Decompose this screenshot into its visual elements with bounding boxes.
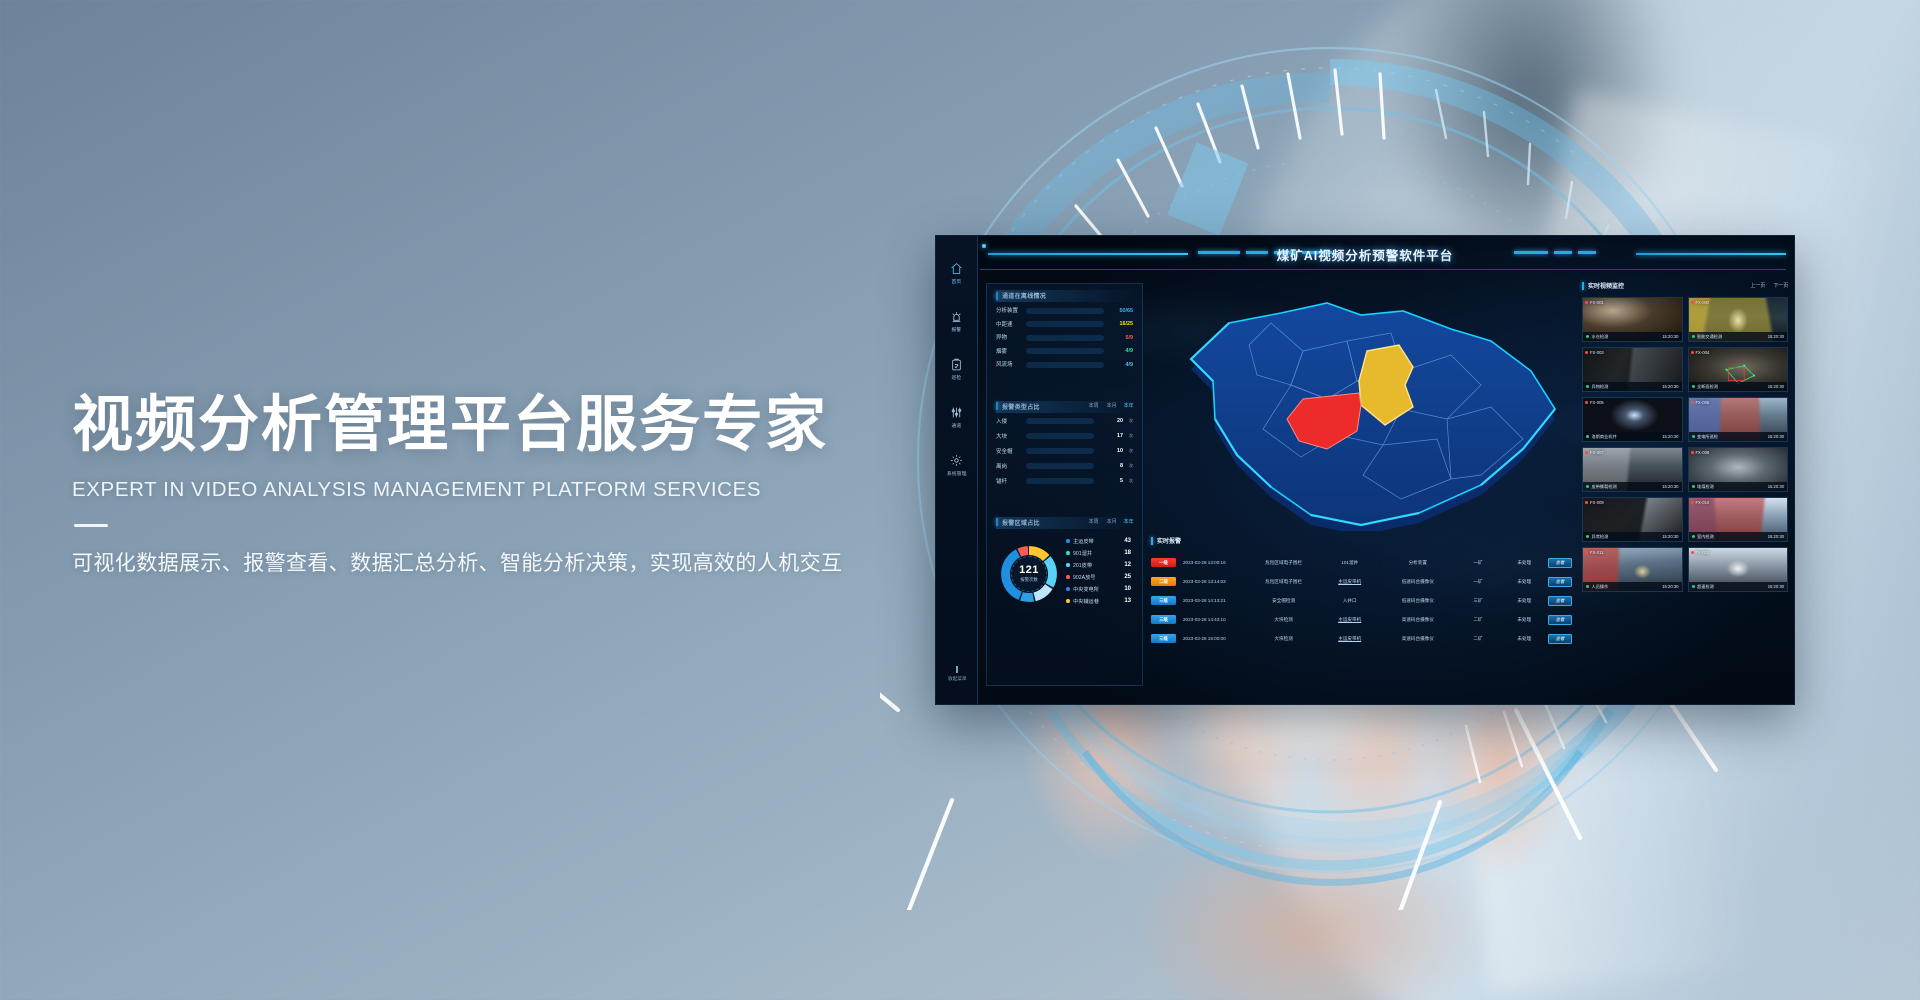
video-tile-name: 超速检测 — [1692, 584, 1714, 590]
alarm-type-row: 大块 17 次 — [996, 433, 1133, 440]
video-tile-time: 15:20:30 — [1768, 334, 1784, 339]
video-panel-title-text: 实时视频监控 — [1588, 281, 1624, 290]
alarm-location: 主运皮带机 — [1319, 579, 1380, 585]
video-tile-bar: 室内检测 15:20:30 — [1689, 532, 1788, 541]
tab-area-this-year[interactable]: 本年 — [1123, 519, 1133, 525]
alarm-device: 分析装置 — [1380, 560, 1455, 566]
record-dot-icon — [1585, 451, 1588, 454]
alarm-type-track — [1026, 418, 1094, 424]
clipboard-check-icon — [950, 358, 963, 373]
video-pagination: 上一页 下一页 — [1751, 283, 1788, 289]
status-badge: 三级 — [1151, 596, 1176, 605]
sidebar-item-home[interactable]: 首页 — [938, 262, 976, 285]
prev-page-button[interactable]: 上一页 — [1751, 282, 1766, 288]
sidebar-item-alarm-label: 报警 — [952, 327, 962, 334]
alarm-type-value: 10 — [1097, 448, 1123, 454]
header-frame-line — [980, 269, 1786, 270]
video-tile-id: FX-008 — [1691, 450, 1710, 455]
legend-item: 中央变电所 10 — [1066, 586, 1131, 593]
record-dot-icon — [1691, 351, 1694, 354]
online-dot-icon — [1692, 335, 1695, 338]
channel-row-label: 中距速 — [996, 320, 1024, 328]
home-icon — [950, 262, 963, 277]
next-page-button[interactable]: 下一页 — [1774, 282, 1789, 288]
video-tile-bar: 异物检测 15:20:30 — [1583, 382, 1682, 391]
alarm-total-caption: 报警次数 — [1020, 577, 1038, 584]
tab-this-week[interactable]: 本周 — [1089, 403, 1099, 409]
record-dot-icon — [1691, 551, 1694, 554]
online-dot-icon — [1586, 385, 1589, 388]
video-tile-name: 皮带撕裂检测 — [1586, 484, 1617, 490]
record-dot-icon — [1585, 401, 1588, 404]
channel-bar-row: 分析装置 50/65 — [996, 307, 1133, 314]
alarm-type-label: 离岗 — [996, 462, 1024, 470]
alarm-type-unit: 次 — [1129, 418, 1133, 424]
online-dot-icon — [1586, 535, 1589, 538]
alarm-type: 大块检测 — [1248, 617, 1319, 623]
alarm-type-row: 安全帽 10 次 — [996, 448, 1133, 455]
video-tile-name: 水仓检测 — [1586, 334, 1608, 340]
hero-text-block: 视频分析管理平台服务专家 EXPERT IN VIDEO ANALYSIS MA… — [72, 390, 932, 577]
legend-item: 中央辅运巷 13 — [1066, 598, 1131, 605]
alarm-device: 高速码台摄像仪 — [1380, 636, 1455, 642]
legend-label: 主运皮带 — [1073, 537, 1126, 545]
alarm-type-row: 锚杆 5 次 — [996, 478, 1133, 485]
alarm-status: 未处理 — [1501, 560, 1548, 566]
video-tile-id: FX-009 — [1585, 500, 1604, 505]
alarm-time: 2023-03-28 13:14:03 — [1183, 579, 1248, 584]
record-dot-icon — [1585, 501, 1588, 504]
status-badge: 二级 — [1151, 577, 1176, 586]
video-tile-bar: 皮带撕裂检测 15:20:30 — [1583, 482, 1682, 491]
channel-row-label: 异物 — [996, 334, 1024, 342]
channel-row-value: 5/9 — [1107, 334, 1133, 340]
alarm-type-unit: 次 — [1129, 478, 1133, 484]
video-tile-id: FX-001 — [1585, 300, 1604, 305]
sidebar-collapse-button[interactable]: 收起菜单 — [936, 666, 978, 682]
channel-row-value: 50/65 — [1107, 307, 1133, 313]
table-row[interactable]: 三级 2023-03-28 14:43:10 大块检测 主运皮带机 高速码台摄像… — [1151, 610, 1576, 629]
video-tile-id: FX-006 — [1691, 400, 1710, 405]
channel-bar-row: 异物 5/9 — [996, 334, 1133, 341]
record-dot-icon — [1585, 551, 1588, 554]
alarm-type-value: 5 — [1097, 478, 1123, 484]
monitor-screen: 煤矿AI视频分析预警软件平台 首页 报警 巡检 — [935, 235, 1795, 705]
alarm-status: 未处理 — [1501, 636, 1548, 642]
video-tile-id: FX-005 — [1585, 400, 1604, 405]
video-tile[interactable]: FX-012 超速检测 15:20:30 — [1688, 547, 1789, 592]
legend-item: 902A放号 25 — [1066, 574, 1131, 581]
video-tile-id: FX-010 — [1691, 500, 1710, 505]
view-button[interactable]: 查看 — [1548, 615, 1572, 625]
channel-row-value: 16/25 — [1107, 321, 1133, 327]
online-dot-icon — [1692, 585, 1695, 588]
online-dot-icon — [1692, 535, 1695, 538]
channel-bar-list: 分析装置 50/65 中距速 16/25 异物 5/9 — [996, 307, 1133, 368]
table-row[interactable]: 三级 2023-03-28 14:13:21 安全帽检测 入井口 低速码台摄像仪… — [1151, 591, 1576, 610]
tab-this-month[interactable]: 本月 — [1106, 403, 1116, 409]
alarm-type-value: 17 — [1097, 433, 1123, 439]
video-tile[interactable]: FX-008 堆煤检测 15:20:30 — [1688, 447, 1789, 492]
alarm-type-value: 8 — [1097, 463, 1123, 469]
alarm-type: 大块检测 — [1248, 636, 1319, 642]
alarm-mine: 二矿 — [1455, 617, 1500, 623]
video-tile-bar: 洛斯商业机井 15:20:30 — [1583, 432, 1682, 441]
alarm-type: 危险区域电子围栏 — [1248, 560, 1319, 566]
dashboard-title: 煤矿AI视频分析预警软件平台 — [936, 245, 1794, 264]
alarm-type-unit: 次 — [1129, 463, 1133, 469]
video-tile-bar: 全断面检测 15:20:30 — [1689, 382, 1788, 391]
alarm-type: 危险区域电子围栏 — [1248, 579, 1319, 585]
alarm-type-track — [1026, 463, 1094, 469]
video-tile-name: 洛斯商业机井 — [1586, 434, 1617, 440]
video-tile-bar: 智能交通检测 15:20:30 — [1689, 332, 1788, 341]
alarm-mine: 一矿 — [1455, 560, 1500, 566]
alarm-area-tabs: 本周 本月 本年 — [1089, 519, 1133, 525]
video-tile[interactable]: FX-005 洛斯商业机井 15:20:30 — [1582, 397, 1683, 442]
legend-label: 902A放号 — [1073, 573, 1126, 581]
alarm-location: 主运皮带机 — [1319, 636, 1380, 642]
alarm-device: 高速码台摄像仪 — [1380, 617, 1455, 623]
online-dot-icon — [1692, 385, 1695, 388]
realtime-alarm-title-text: 实时报警 — [1157, 536, 1181, 545]
video-tile-name: 全断面检测 — [1692, 384, 1718, 390]
legend-label: 901溜井 — [1073, 549, 1126, 557]
view-button[interactable]: 查看 — [1548, 634, 1572, 644]
view-button[interactable]: 查看 — [1548, 558, 1572, 568]
sliders-icon — [950, 406, 963, 421]
video-tile[interactable]: FX-002 智能交通检测 15:20:30 — [1688, 297, 1789, 342]
video-tile-bar: 人员操作 15:20:30 — [1583, 582, 1682, 591]
alarm-type-value: 20 — [1097, 418, 1123, 424]
video-tile-id: FX-011 — [1585, 550, 1603, 555]
alarm-location: 101溜井 — [1319, 560, 1380, 566]
video-tile-name: 堆煤检测 — [1692, 484, 1714, 490]
view-button[interactable]: 查看 — [1548, 596, 1572, 606]
video-tile-time: 15:20:30 — [1662, 384, 1678, 389]
channel-row-track — [1026, 335, 1104, 341]
channel-row-value: 4/9 — [1107, 348, 1133, 354]
video-tile-id: FX-004 — [1691, 350, 1710, 355]
record-dot-icon — [1691, 501, 1694, 504]
tab-area-this-month[interactable]: 本月 — [1106, 519, 1116, 525]
alarm-location: 主运皮带机 — [1319, 617, 1380, 623]
video-tile[interactable]: FX-006 变电所巡检 15:20:30 — [1688, 397, 1789, 442]
alarm-total-count: 121 — [1019, 564, 1039, 576]
alarm-status: 未处理 — [1501, 598, 1548, 604]
video-tile-time: 15:20:30 — [1768, 434, 1784, 439]
view-button[interactable]: 查看 — [1548, 577, 1572, 587]
online-dot-icon — [1692, 485, 1695, 488]
record-dot-icon — [1691, 301, 1694, 304]
alarm-device: 低速码台摄像仪 — [1380, 598, 1455, 604]
sidebar: 首页 报警 巡检 通道 — [936, 236, 978, 704]
alarm-type-unit: 次 — [1129, 433, 1133, 439]
video-tile-id: FX-003 — [1585, 350, 1604, 355]
tab-this-year[interactable]: 本年 — [1123, 403, 1133, 409]
alarm-type-bar-list: 入侵 20 次 大块 17 次 安全帽 10 — [996, 418, 1133, 485]
video-tile-id: FX-007 — [1585, 450, 1604, 455]
channel-row-value: 4/9 — [1107, 361, 1133, 367]
video-tile-name: 异常检测 — [1586, 534, 1608, 540]
video-panel-title: 实时视频监控 — [1582, 281, 1624, 290]
channel-row-label: 分析装置 — [996, 307, 1024, 315]
online-dot-icon — [1586, 335, 1589, 338]
alarm-type: 安全帽检测 — [1248, 598, 1319, 604]
channel-online-panel: 通道在离线情况 分析装置 50/65 中距速 16/25 异 — [987, 284, 1142, 379]
alarm-area-donut-chart: 121 报警次数 — [998, 543, 1060, 605]
video-tile-time: 15:20:30 — [1662, 484, 1678, 489]
alarm-area-panel: 报警区域占比 本周 本月 本年 — [987, 511, 1142, 614]
donut-center: 121 报警次数 — [1011, 556, 1047, 592]
channel-row-track — [1026, 348, 1104, 354]
collapse-bar-icon — [956, 666, 958, 673]
channel-bar-row: 风流场 4/9 — [996, 361, 1133, 368]
video-tile-time: 15:20:30 — [1768, 534, 1784, 539]
alarm-light-icon — [950, 310, 963, 325]
video-tile-time: 15:20:30 — [1662, 334, 1678, 339]
dashboard-root: 煤矿AI视频分析预警软件平台 首页 报警 巡检 — [936, 236, 1794, 704]
alarm-type-unit: 次 — [1129, 448, 1133, 454]
legend-item: 主运皮带 43 — [1066, 538, 1131, 545]
video-monitor-panel: 实时视频监控 上一页 下一页 FX-001 水仓检测 15:20:30 — [1582, 281, 1788, 690]
online-dot-icon — [1586, 435, 1589, 438]
hero-description: 可视化数据展示、报警查看、数据汇总分析、智能分析决策，实现高效的人机交互 — [72, 547, 932, 577]
video-tile-bar: 堆煤检测 15:20:30 — [1689, 482, 1788, 491]
tab-area-this-week[interactable]: 本周 — [1089, 519, 1099, 525]
alarm-type-label: 入侵 — [996, 417, 1024, 425]
video-panel-header: 实时视频监控 上一页 下一页 — [1582, 281, 1788, 290]
legend-label: 201皮带 — [1073, 561, 1126, 569]
hero-subtitle: EXPERT IN VIDEO ANALYSIS MANAGEMENT PLAT… — [72, 478, 932, 502]
video-tile[interactable]: FX-004 全断面检测 15:20:30 — [1688, 347, 1789, 392]
channel-bar-row: 中距速 16/25 — [996, 321, 1133, 328]
video-tile-time: 15:20:30 — [1662, 534, 1678, 539]
video-tile-name: 智能交通检测 — [1692, 334, 1723, 340]
video-tile-name: 变电所巡检 — [1692, 434, 1718, 440]
video-tile-time: 15:20:30 — [1662, 434, 1678, 439]
sidebar-item-channel[interactable]: 通道 — [938, 406, 976, 429]
table-row[interactable]: 二级 2023-03-28 13:14:03 危险区域电子围栏 主运皮带机 低速… — [1151, 572, 1576, 591]
alarm-area-donut-wrap: 121 报警次数 主运皮带 43 901溜井 18 — [996, 534, 1133, 610]
video-tile[interactable]: FX-010 室内检测 15:20:30 — [1688, 497, 1789, 542]
dashboard-header: 煤矿AI视频分析预警软件平台 — [936, 236, 1794, 276]
alarm-type-row: 入侵 20 次 — [996, 418, 1133, 425]
alarm-type-row: 离岗 8 次 — [996, 463, 1133, 470]
video-tile-id: FX-012 — [1691, 550, 1710, 555]
alarm-device: 低速码台摄像仪 — [1380, 579, 1455, 585]
alarm-location: 入井口 — [1319, 598, 1380, 604]
sidebar-item-inspection-label: 巡检 — [952, 375, 962, 382]
alarm-mine: 一矿 — [1455, 579, 1500, 585]
alarm-type-track — [1026, 478, 1094, 484]
region-map[interactable] — [1151, 281, 1581, 531]
record-dot-icon — [1585, 351, 1588, 354]
left-panel-column: 通道在离线情况 分析装置 50/65 中距速 16/25 异 — [986, 283, 1143, 686]
video-tile-id: FX-002 — [1691, 300, 1710, 305]
channel-row-track — [1026, 321, 1104, 327]
alarm-type-tabs: 本周 本月 本年 — [1089, 403, 1133, 409]
video-tile-time: 15:20:30 — [1768, 484, 1784, 489]
online-dot-icon — [1692, 435, 1695, 438]
alarm-mine: 三矿 — [1455, 598, 1500, 604]
alarm-type-track — [1026, 448, 1094, 454]
sidebar-item-home-label: 首页 — [952, 279, 962, 286]
alarm-type-label: 大块 — [996, 432, 1024, 440]
alarm-status: 未处理 — [1501, 579, 1548, 585]
hero-title: 视频分析管理平台服务专家 — [72, 390, 932, 458]
video-tile-time: 15:20:30 — [1768, 584, 1784, 589]
alarm-time: 2023-03-28 15:00:00 — [1183, 636, 1248, 641]
channel-row-track — [1026, 362, 1104, 368]
video-tile-bar: 异常检测 15:20:30 — [1583, 532, 1682, 541]
online-dot-icon — [1586, 485, 1589, 488]
video-tile-bar: 变电所巡检 15:20:30 — [1689, 432, 1788, 441]
alarm-area-legend: 主运皮带 43 901溜井 18 201皮带 12 — [1066, 538, 1131, 610]
sidebar-item-system-label: 系统管理 — [947, 471, 967, 478]
sidebar-item-channel-label: 通道 — [952, 423, 962, 430]
channel-row-track — [1026, 308, 1104, 314]
alarm-mine: 二矿 — [1455, 636, 1500, 642]
legend-label: 中央变电所 — [1073, 585, 1126, 593]
alarm-type-label: 安全帽 — [996, 447, 1024, 455]
record-dot-icon — [1691, 401, 1694, 404]
sidebar-item-system[interactable]: 系统管理 — [938, 454, 976, 477]
realtime-alarm-section: 实时报警 一级 2023-03-28 13:00:16 危险区域电子围栏 101… — [1151, 536, 1576, 690]
video-tile[interactable]: FX-001 水仓检测 15:20:30 — [1582, 297, 1683, 342]
realtime-alarm-title: 实时报警 — [1151, 536, 1576, 545]
sidebar-item-alarm[interactable]: 报警 — [938, 310, 976, 333]
video-tile-bar: 水仓检测 15:20:30 — [1583, 332, 1682, 341]
hero-divider — [74, 524, 108, 527]
video-tile[interactable]: FX-007 皮带撕裂检测 15:20:30 — [1582, 447, 1683, 492]
video-tile[interactable]: FX-009 异常检测 15:20:30 — [1582, 497, 1683, 542]
title-tick-icon — [1582, 282, 1584, 290]
table-row[interactable]: 一级 2023-03-28 13:00:16 危险区域电子围栏 101溜井 分析… — [1151, 553, 1576, 572]
video-tile-name: 室内检测 — [1692, 534, 1714, 540]
alarm-time: 2023-03-28 13:00:16 — [1183, 560, 1248, 565]
video-grid: FX-001 水仓检测 15:20:30 FX-002 智能交通检测 15:20… — [1582, 297, 1788, 592]
alarm-time: 2023-03-28 14:43:10 — [1183, 617, 1248, 622]
alarm-type-label: 锚杆 — [996, 477, 1024, 485]
video-tile[interactable]: FX-003 异物检测 15:20:30 — [1582, 347, 1683, 392]
alarm-status: 未处理 — [1501, 617, 1548, 623]
video-tile-name: 人员操作 — [1586, 584, 1608, 590]
table-row[interactable]: 三级 2023-03-28 15:00:00 大块检测 主运皮带机 高速码台摄像… — [1151, 629, 1576, 648]
legend-item: 901溜井 18 — [1066, 550, 1131, 557]
channel-row-label: 烟雾 — [996, 347, 1024, 355]
alarm-time: 2023-03-28 14:13:21 — [1183, 598, 1248, 603]
video-tile-name: 异物检测 — [1586, 384, 1608, 390]
status-badge: 一级 — [1151, 558, 1176, 567]
legend-label: 中央辅运巷 — [1073, 597, 1126, 605]
channel-bar-row: 烟雾 4/9 — [996, 348, 1133, 355]
record-dot-icon — [1585, 301, 1588, 304]
sidebar-collapse-label: 收起菜单 — [948, 676, 966, 683]
status-badge: 三级 — [1151, 615, 1176, 624]
channel-row-label: 风流场 — [996, 361, 1024, 369]
alarm-type-track — [1026, 433, 1094, 439]
online-dot-icon — [1586, 585, 1589, 588]
video-tile[interactable]: FX-011 人员操作 15:20:30 — [1582, 547, 1683, 592]
video-tile-bar: 超速检测 15:20:30 — [1689, 582, 1788, 591]
gear-icon — [950, 454, 963, 469]
video-tile-time: 15:20:30 — [1768, 384, 1784, 389]
status-badge: 三级 — [1151, 634, 1176, 643]
video-tile-time: 15:20:30 — [1662, 584, 1678, 589]
title-tick-icon — [1151, 537, 1153, 545]
record-dot-icon — [1691, 451, 1694, 454]
sidebar-item-inspection[interactable]: 巡检 — [938, 358, 976, 381]
alarm-type-panel: 报警类型占比 本周 本月 本年 入侵 20 次 — [987, 395, 1142, 497]
channel-panel-title-bg — [996, 290, 1133, 302]
legend-item: 201皮带 12 — [1066, 562, 1131, 569]
